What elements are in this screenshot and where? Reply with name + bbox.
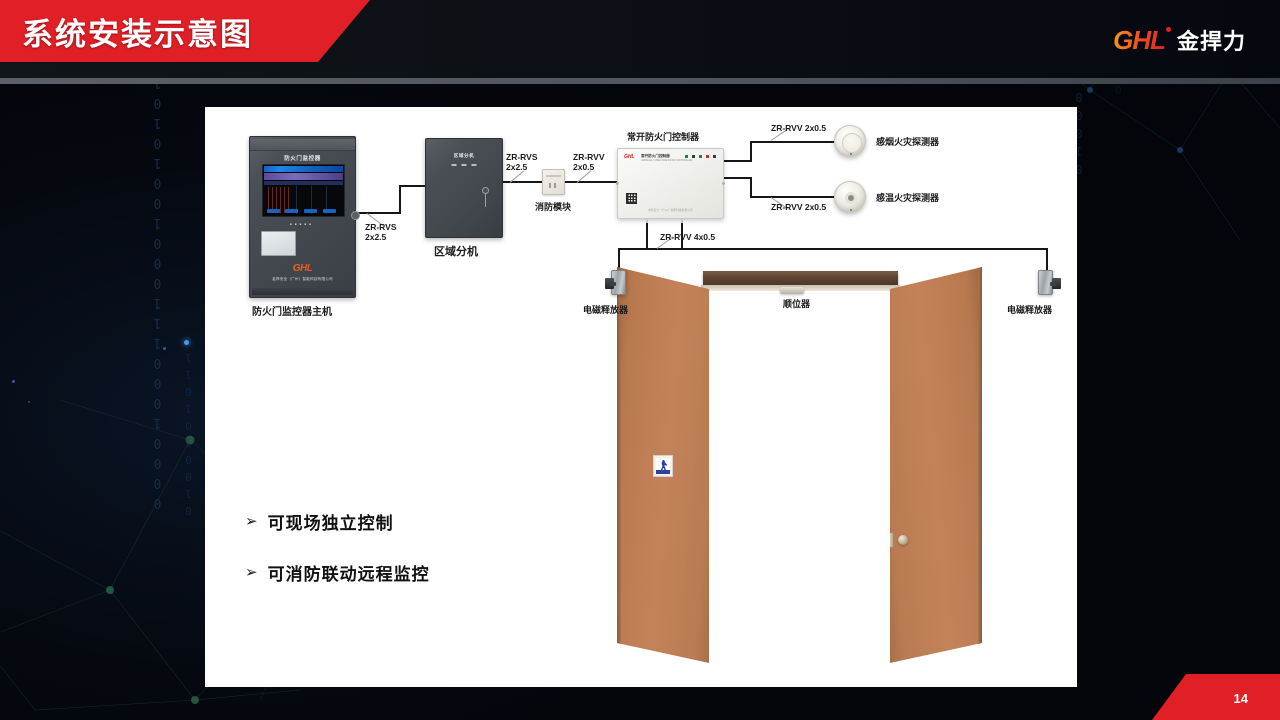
controller-indicator-row — [685, 155, 716, 158]
label-heat-detector: 感温火灾探测器 — [876, 191, 939, 204]
wire-controller-down-left — [646, 219, 648, 249]
brand-logo: GHL 金捍力 — [1113, 24, 1246, 56]
door-knob-icon[interactable] — [898, 535, 908, 545]
lcd-row-purple — [264, 173, 343, 180]
door-left-edge — [617, 267, 621, 663]
label-holder-left: 电磁释放器 — [583, 303, 628, 316]
page-number: 14 — [1234, 691, 1248, 706]
controller-indicator-green — [699, 155, 702, 158]
wire-controller-to-heat — [724, 177, 752, 179]
cable-label-line1: ZR-RVV 4x0.5 — [660, 233, 715, 243]
bullet-text: 可消防联动远程监控 — [268, 560, 430, 585]
wire-smoke-run — [750, 141, 834, 143]
host-indicator: ■ — [309, 222, 311, 226]
cable-label-line2: 2x0.5 — [573, 163, 605, 173]
holder-arm — [610, 282, 616, 286]
wire-smoke-riser — [750, 141, 752, 162]
label-door-coordinator: 顺位器 — [783, 297, 810, 310]
zone-indicator-row — [452, 164, 477, 166]
controller-qr-code — [626, 193, 637, 204]
zone-indicator — [472, 164, 477, 166]
host-panel-title: 防火门监控器 — [250, 154, 355, 162]
wire-holder-bus — [618, 248, 1048, 250]
zone-lock-icon[interactable] — [482, 187, 489, 194]
lcd-soft-button[interactable] — [323, 209, 336, 213]
host-lcd-screen — [262, 164, 345, 217]
binary-column-2: 01001010110 — [182, 330, 195, 517]
label-door-controller: 常开防火门控制器 — [627, 130, 699, 143]
binary-column-1: 0000100011100010010101101 — [150, 10, 165, 510]
cable-label-controller-to-smoke: ZR-RVV 2x0.5 — [771, 124, 826, 134]
label-fire-module: 消防模块 — [535, 200, 571, 213]
title-banner: 系统安装示意图 — [0, 0, 370, 62]
zone-indicator — [452, 164, 457, 166]
wire-host-to-zone-riser — [399, 185, 401, 214]
emergency-exit-sign-icon — [653, 455, 673, 477]
label-fire-door-monitor-host: 防火门监控器主机 — [252, 303, 332, 318]
bullet-item-1: ➢ 可现场独立控制 — [245, 509, 430, 534]
zone-lock-stem — [485, 194, 486, 207]
host-access-panel[interactable] — [261, 231, 296, 256]
label-zone-sub-unit: 区域分机 — [434, 243, 478, 259]
cable-label-controller-to-holders: ZR-RVV 4x0.5 — [660, 233, 715, 243]
cable-label-line2: 2x2.5 — [365, 233, 397, 243]
wire-controller-to-smoke — [724, 160, 752, 162]
door-latch — [888, 533, 893, 547]
device-fire-door-monitor-host[interactable]: 防火门监控器 ■ ■ ■ ■ ■ GHL — [249, 136, 356, 298]
content-panel: ZR-RVS 2x2.5 ZR-RVS 2x2.5 ZR-RVV 2x0.5 Z… — [205, 107, 1077, 687]
brand-dot-icon — [1166, 27, 1171, 32]
smoke-detector-led — [850, 153, 852, 155]
device-normally-open-fire-door-controller[interactable]: GHL 常开防火门控制器 NORMALLY OPEN FIRE DOOR CON… — [617, 148, 724, 219]
controller-indicator-dark — [692, 155, 695, 158]
controller-conduit — [681, 218, 683, 223]
host-indicator: ■ — [290, 222, 292, 226]
host-base-trim — [252, 288, 353, 295]
controller-port-right — [722, 182, 725, 185]
label-holder-right: 电磁释放器 — [1007, 303, 1052, 316]
wire-module-to-controller — [564, 181, 618, 183]
host-indicator: ■ — [304, 222, 306, 226]
brand-chinese-text: 金捍力 — [1177, 24, 1246, 56]
host-lock-knob[interactable] — [351, 211, 360, 220]
page-title: 系统安装示意图 — [0, 9, 253, 54]
module-label-strip — [546, 175, 561, 177]
door-header-frame — [703, 271, 898, 286]
zone-panel-title: 区域分机 — [426, 153, 502, 159]
header-divider — [0, 78, 1280, 84]
device-fire-module[interactable] — [542, 169, 565, 195]
lcd-soft-button[interactable] — [267, 209, 280, 213]
device-door-coordinator[interactable] — [780, 287, 804, 294]
lcd-soft-button[interactable] — [304, 209, 317, 213]
device-zone-sub-unit[interactable]: 区域分机 — [425, 138, 503, 238]
glow-dot — [184, 340, 189, 345]
controller-indicator-dark — [713, 155, 716, 158]
wire-host-to-zone — [356, 212, 401, 214]
device-electromagnetic-door-holder-left[interactable] — [611, 270, 626, 295]
cable-label-host-to-zone: ZR-RVS 2x2.5 — [365, 223, 397, 243]
controller-product-subtitle: NORMALLY OPEN FIRE DOOR CONTROLLER — [641, 159, 692, 162]
glow-dot — [163, 347, 166, 350]
label-smoke-detector: 感烟火灾探测器 — [876, 135, 939, 148]
glow-dot — [28, 401, 30, 403]
cable-label-zone-to-module: ZR-RVS 2x2.5 — [506, 153, 538, 173]
zone-indicator — [462, 164, 467, 166]
cable-label-module-to-controller: ZR-RVV 2x0.5 — [573, 153, 605, 173]
wire-holder-right-drop — [1046, 248, 1048, 270]
cable-label-line1: ZR-RVV 2x0.5 — [771, 124, 826, 134]
module-terminal — [554, 183, 556, 188]
wire-heat-riser — [750, 177, 752, 198]
door-leaf-left[interactable] — [617, 267, 709, 663]
controller-company-text: 金捍安全（广州）智能科技有限公司 — [618, 208, 723, 212]
bullet-item-2: ➢ 可消防联动远程监控 — [245, 560, 430, 585]
bullet-list: ➢ 可现场独立控制 ➢ 可消防联动远程监控 — [245, 509, 430, 611]
wire-host-to-zone-upper — [399, 185, 427, 187]
bullet-arrow-icon: ➢ — [245, 565, 258, 580]
heat-detector-led — [850, 209, 852, 211]
cable-label-line2: 2x2.5 — [506, 163, 538, 173]
brand-latin-text: GHL — [1113, 25, 1165, 56]
module-terminal — [549, 183, 551, 188]
host-indicator: ■ — [295, 222, 297, 226]
host-company-text: 金捍安全（广州）智能科技有限公司 — [250, 277, 355, 282]
host-indicator: ■ — [300, 222, 302, 226]
door-leaf-right[interactable] — [890, 267, 982, 663]
bullet-arrow-icon: ➢ — [245, 514, 258, 529]
door-right-edge — [978, 267, 982, 663]
fire-door-assembly — [605, 257, 1025, 669]
host-indicator-row: ■ ■ ■ ■ ■ — [290, 222, 344, 226]
wire-heat-run — [750, 196, 834, 198]
lcd-title-bar — [264, 166, 343, 172]
cable-label-controller-to-heat: ZR-RVV 2x0.5 — [771, 203, 826, 213]
controller-indicator-red — [706, 155, 709, 158]
device-electromagnetic-door-holder-right[interactable] — [1038, 270, 1053, 295]
controller-port-left — [616, 182, 619, 185]
bullet-text: 可现场独立控制 — [268, 509, 394, 534]
lcd-row-blue — [264, 181, 343, 185]
controller-brand-logo: GHL — [624, 154, 635, 160]
holder-arm — [1050, 282, 1056, 286]
lcd-soft-button[interactable] — [285, 209, 298, 213]
host-top-trim — [250, 139, 355, 151]
controller-conduit — [646, 218, 648, 223]
host-brand-logo: GHL — [250, 263, 355, 274]
controller-indicator-green — [685, 155, 688, 158]
device-heat-detector[interactable] — [834, 181, 866, 213]
cable-label-line1: ZR-RVV 2x0.5 — [771, 203, 826, 213]
glow-dot — [12, 380, 15, 383]
device-smoke-detector[interactable] — [834, 125, 866, 157]
